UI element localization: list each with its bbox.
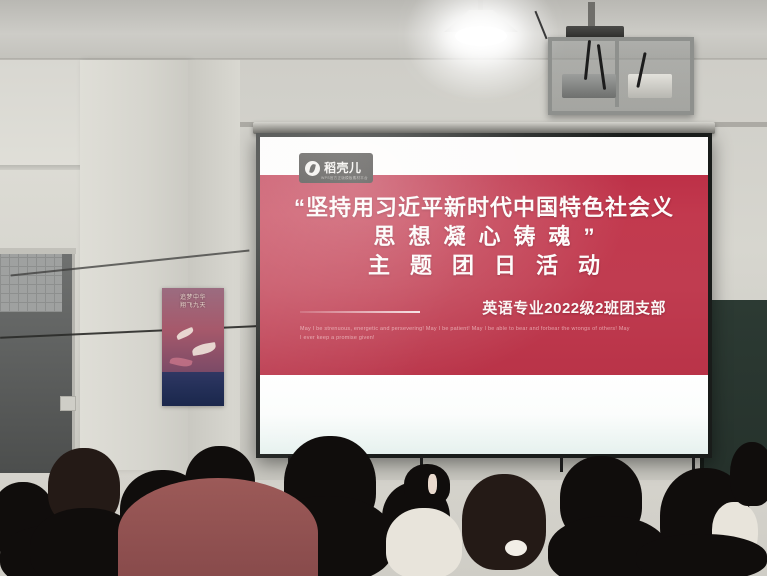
docer-leaf-icon [305, 161, 320, 176]
wall-pillar-inner [188, 60, 240, 470]
student-shoulders [636, 534, 767, 576]
ceiling-lamp-icon [455, 26, 507, 46]
ceiling-projector-icon [562, 74, 616, 98]
dove-icon [175, 327, 194, 340]
slide-subtitle: 英语专业2022级2班团支部 [482, 297, 666, 318]
audience-foreground [0, 430, 767, 576]
slide-subtitle-row: 英语专业2022级2班团支部 [260, 297, 708, 319]
headline-line-3: 主题团日活动 [260, 251, 708, 280]
subtitle-divider [300, 311, 420, 313]
logo-brand-text: 稻壳儿 [324, 162, 362, 174]
raised-hand [428, 474, 437, 494]
projection-screen-surface: 稻壳儿 WPS官方正版模板素材平台 “坚持用习近平新时代中国特色社会义 思想凝心… [260, 137, 708, 454]
student-head [404, 464, 450, 506]
hair-bow [505, 540, 527, 556]
window-grille [0, 250, 62, 312]
logo-tagline: WPS官方正版模板素材平台 [321, 176, 368, 181]
student-white-hood [386, 508, 462, 576]
wall-poster: 追梦中华 翔飞九天 [162, 288, 224, 406]
projection-screen: 稻壳儿 WPS官方正版模板素材平台 “坚持用习近平新时代中国特色社会义 思想凝心… [256, 133, 712, 458]
slide-english-caption: May I be strenuous, energetic and persev… [300, 325, 630, 342]
docer-logo-badge: 稻壳儿 WPS官方正版模板素材平台 [299, 153, 373, 183]
wall-outlet [60, 396, 76, 411]
dove-icon [191, 342, 216, 356]
projector-secondary-unit [628, 74, 672, 98]
poster-title: 追梦中华 翔飞九天 [162, 294, 224, 310]
window-header [0, 248, 76, 254]
student-head [462, 474, 546, 570]
poster-title-line2: 翔飞九天 [162, 302, 224, 310]
student-head [730, 442, 767, 506]
classroom-photo-scene: 追梦中华 翔飞九天 稻壳儿 WPS官方正版模板素材平台 [0, 0, 767, 576]
poster-title-line1: 追梦中华 [162, 294, 224, 302]
slide-headline: “坚持用习近平新时代中国特色社会义 思想凝心铸魂” 主题团日活动 [260, 193, 708, 280]
dove-icon [169, 355, 192, 368]
presentation-slide: 稻壳儿 WPS官方正版模板素材平台 “坚持用习近平新时代中国特色社会义 思想凝心… [260, 137, 708, 454]
headline-line-2: 思想凝心铸魂” [260, 222, 708, 251]
headline-line-1: “坚持用习近平新时代中国特色社会义 [260, 193, 708, 222]
poster-footer [162, 372, 224, 406]
